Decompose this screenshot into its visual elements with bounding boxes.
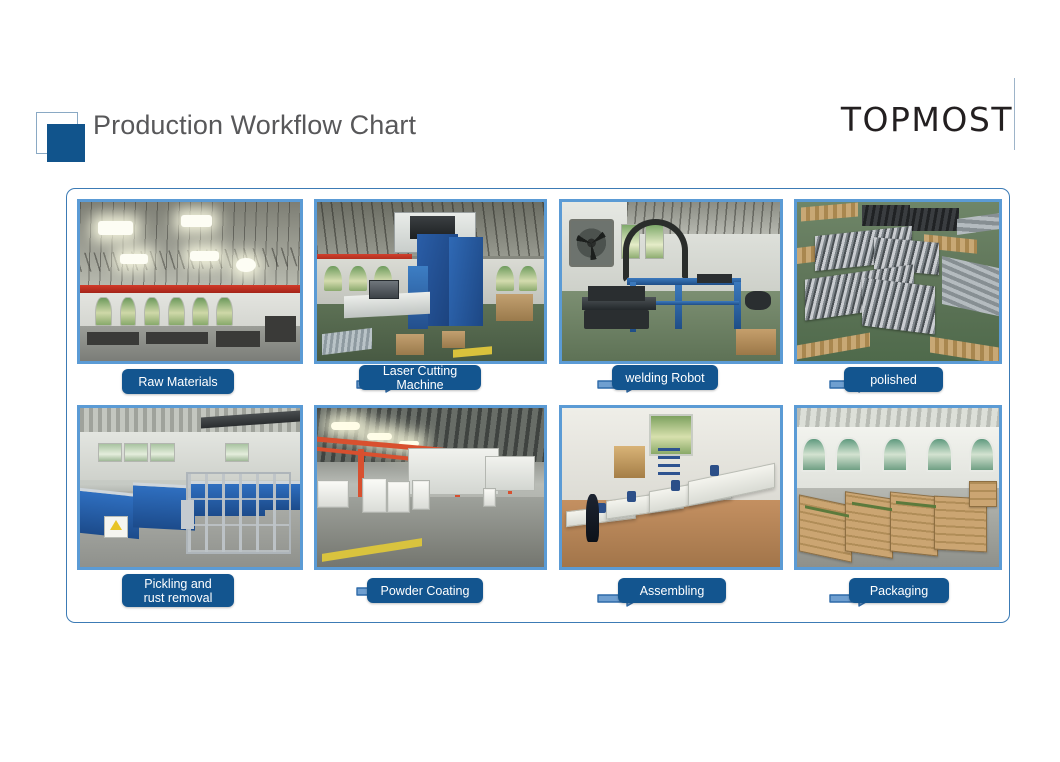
brand-logo: TOPMOST <box>841 100 1013 139</box>
step-image-5[interactable] <box>77 405 303 570</box>
step-label-5[interactable]: Pickling and rust removal <box>122 574 234 607</box>
brand-logo-text-part2: OST <box>941 100 1013 139</box>
slide-header: Production Workflow Chart TOPMOST <box>0 0 1060 185</box>
page-title: Production Workflow Chart <box>93 110 416 141</box>
step-image-6[interactable] <box>314 405 547 570</box>
step-label-8[interactable]: Packaging <box>849 578 949 603</box>
step-label-5-line1: Pickling and <box>144 577 211 591</box>
workflow-frame: Raw Materials <box>66 188 1010 623</box>
step-image-3[interactable] <box>559 199 783 364</box>
step-image-8[interactable] <box>794 405 1002 570</box>
step-image-7[interactable] <box>559 405 783 570</box>
step-image-2[interactable] <box>314 199 547 364</box>
step-label-6[interactable]: Powder Coating <box>367 578 483 603</box>
brand-logo-text-part1: TOP <box>841 100 912 139</box>
step-image-1[interactable] <box>77 199 303 364</box>
step-label-3[interactable]: welding Robot <box>612 365 718 390</box>
step-label-2[interactable]: Laser Cutting Machine <box>359 365 481 390</box>
step-label-4[interactable]: polished <box>844 367 943 392</box>
workflow-row-1: Raw Materials <box>67 192 1011 400</box>
slide-root: Production Workflow Chart TOPMOST <box>0 0 1060 762</box>
step-label-7[interactable]: Assembling <box>618 578 726 603</box>
step-label-5-line2: rust removal <box>144 591 213 605</box>
title-decoration-filled-square <box>47 124 85 162</box>
brand-divider-line <box>1014 78 1015 150</box>
step-image-4[interactable] <box>794 199 1002 364</box>
step-label-1[interactable]: Raw Materials <box>122 369 234 394</box>
workflow-row-2: Pickling and rust removal <box>67 398 1011 606</box>
brand-logo-m-glyph: M <box>911 100 941 139</box>
